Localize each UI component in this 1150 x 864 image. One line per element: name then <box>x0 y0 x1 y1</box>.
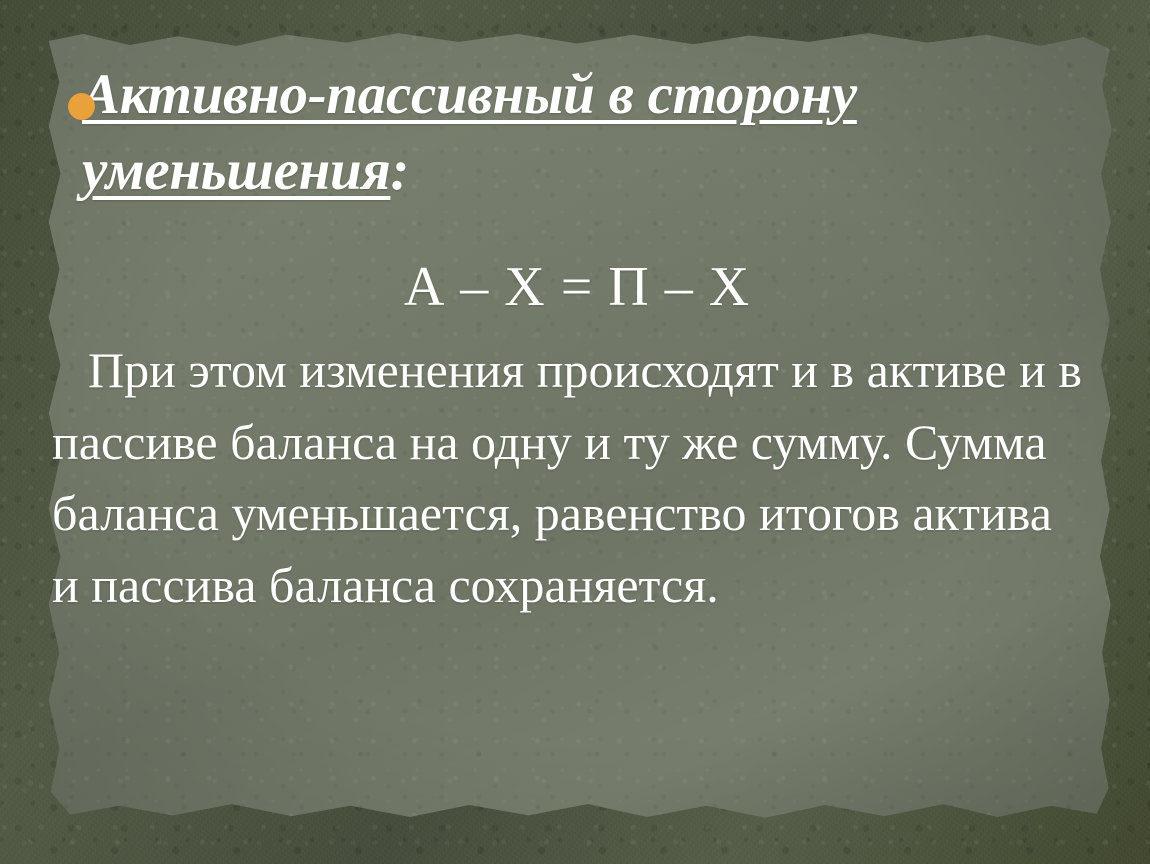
balance-formula: А – Х = П – Х <box>38 256 1116 319</box>
slide-canvas: Активно-пассивный в сторону уменьшения: … <box>0 0 1150 864</box>
slide-content: Активно-пассивный в сторону уменьшения: … <box>38 30 1116 828</box>
body-paragraph: При этом изменения происходят и в активе… <box>52 335 1082 621</box>
bullet-dot-icon <box>68 93 95 120</box>
slide-title-underlined: Активно-пассивный в сторону уменьшения <box>82 63 857 202</box>
slide-title: Активно-пассивный в сторону уменьшения: <box>52 57 1062 210</box>
slide-title-colon: : <box>390 139 409 202</box>
title-block: Активно-пассивный в сторону уменьшения: <box>52 57 1062 210</box>
